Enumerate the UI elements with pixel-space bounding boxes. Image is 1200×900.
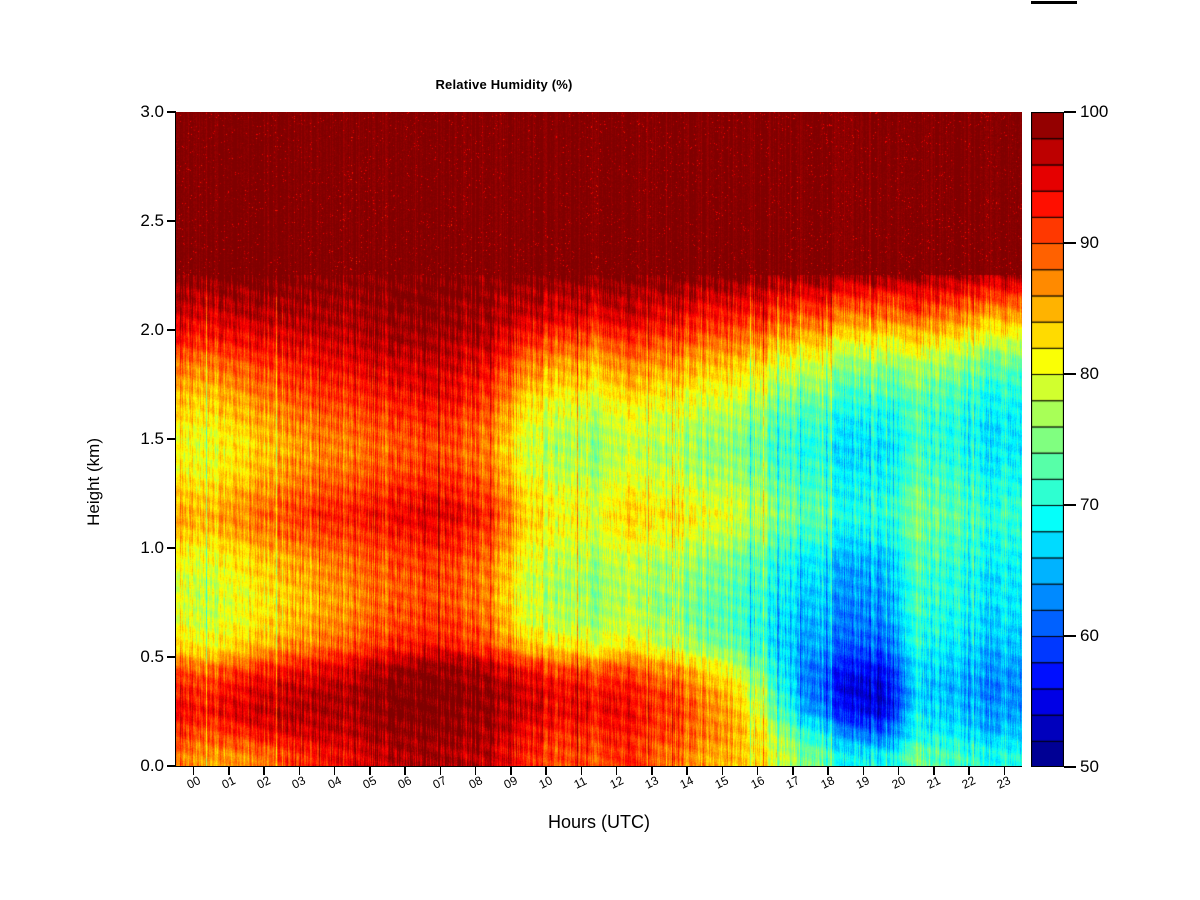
page-title: Relative Humidity (%): [0, 77, 1200, 92]
y-tick-label: 1.5: [118, 430, 164, 447]
colorbar: [1031, 112, 1064, 767]
y-tick-label: 1.0: [118, 539, 164, 556]
colorbar-tick: [1064, 766, 1076, 767]
colorbar-tick-label: 80: [1080, 365, 1099, 382]
x-tick-label: 04: [326, 774, 343, 791]
x-tick-label: 16: [749, 774, 766, 791]
y-tick-label: 3.0: [118, 103, 164, 120]
colorbar-tick-label: 90: [1080, 234, 1099, 251]
x-tick-label: 11: [572, 775, 588, 791]
x-tick-label: 13: [643, 774, 660, 791]
heatmap-plot-area: [176, 112, 1022, 766]
x-tick-label: 23: [995, 774, 1012, 791]
figure-canvas: Relative Humidity (%) 000102030405060708…: [0, 0, 1200, 900]
y-tick: [167, 111, 176, 112]
x-tick-label: 03: [290, 774, 307, 791]
heatmap-axes: 0001020304050607080910111213141516171819…: [176, 112, 1022, 766]
x-tick-label: 22: [960, 774, 977, 791]
y-axis-label: Height (km): [84, 438, 104, 526]
y-tick: [167, 547, 176, 548]
y-tick: [167, 656, 176, 657]
x-tick-label: 02: [255, 774, 272, 791]
x-tick-label: 14: [678, 774, 695, 791]
x-tick-label: 21: [925, 774, 942, 791]
x-axis-line: [176, 766, 1022, 767]
x-tick-label: 17: [784, 774, 801, 791]
y-tick-label: 0.0: [118, 757, 164, 774]
colorbar-tick: [1064, 111, 1076, 112]
x-tick-label: 08: [467, 774, 484, 791]
colorbar-tick-label: 50: [1080, 758, 1099, 775]
x-tick-label: 20: [890, 774, 907, 791]
x-tick-label: 12: [608, 774, 625, 791]
x-tick-label: 05: [361, 774, 378, 791]
x-tick-label: 18: [819, 774, 836, 791]
y-tick: [167, 438, 176, 439]
colorbar-tick-label: 60: [1080, 627, 1099, 644]
y-tick-label: 0.5: [118, 648, 164, 665]
colorbar-tick: [1064, 504, 1076, 505]
x-tick-label: 19: [854, 774, 871, 791]
y-tick-label: 2.0: [118, 321, 164, 338]
colorbar-gradient: [1031, 112, 1064, 767]
colorbar-tick-label: 70: [1080, 496, 1099, 513]
colorbar-tick: [1064, 242, 1076, 243]
plot-title-text: Relative Humidity (%): [435, 77, 572, 92]
x-tick-label: 15: [713, 774, 730, 791]
y-axis-label-wrap: Height (km): [62, 438, 86, 638]
colorbar-tick-label: 100: [1080, 103, 1108, 120]
corner-rule-artifact: [1031, 1, 1077, 4]
y-tick: [167, 765, 176, 766]
y-tick: [167, 329, 176, 330]
x-tick-label: 09: [502, 774, 519, 791]
y-tick-label: 2.5: [118, 212, 164, 229]
x-tick-label: 06: [396, 774, 413, 791]
y-tick: [167, 220, 176, 221]
x-tick-label: 01: [220, 774, 237, 791]
x-axis-label: Hours (UTC): [176, 812, 1022, 833]
x-tick-label: 07: [431, 774, 448, 791]
x-tick-label: 10: [537, 774, 554, 791]
colorbar-tick: [1064, 635, 1076, 636]
colorbar-tick: [1064, 373, 1076, 374]
x-tick-label: 00: [185, 774, 202, 791]
